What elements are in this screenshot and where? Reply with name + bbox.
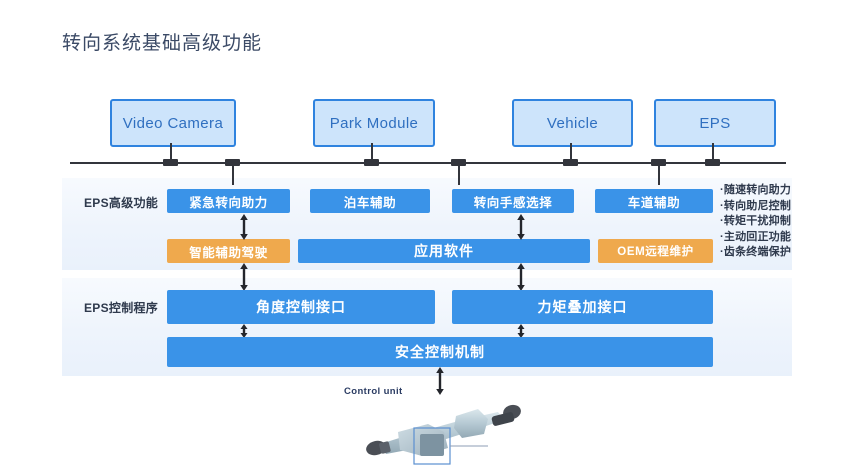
- software-bar-application-software[interactable]: 应用软件: [298, 239, 590, 263]
- software-chip-oem-remote-maintenance[interactable]: OEM远程维护: [598, 239, 713, 263]
- device-box-label: Park Module: [330, 115, 419, 132]
- arrow-software-to-angle-interface: [238, 263, 250, 291]
- bullet-item: ·转向助尼控制: [720, 199, 791, 215]
- base-function-bullet-list: ·随速转向助力 ·转向助尼控制 ·转矩干扰抑制 ·主动回正功能 ·齿条终端保护: [720, 183, 791, 261]
- device-box-park-module[interactable]: Park Module: [313, 99, 435, 147]
- software-chip-label: 智能辅助驾驶: [189, 242, 268, 261]
- bus-node: [225, 159, 240, 166]
- function-chip-label: 紧急转向助力: [189, 192, 268, 211]
- function-chip-label: 车道辅助: [628, 192, 680, 211]
- bus-node: [163, 159, 178, 166]
- arrow-up-down-right: [515, 214, 527, 240]
- bus-node: [563, 159, 578, 166]
- control-unit-caption: Control unit: [344, 386, 403, 397]
- device-box-eps[interactable]: EPS: [654, 99, 776, 147]
- device-box-label: Vehicle: [547, 115, 598, 132]
- arrow-angle-to-safety: [238, 324, 250, 338]
- bullet-item: ·随速转向助力: [720, 183, 791, 199]
- interface-bar-angle-control[interactable]: 角度控制接口: [167, 290, 435, 324]
- software-bar-label: 应用软件: [414, 241, 474, 261]
- row-label-advanced-functions: EPS高级功能: [84, 194, 158, 211]
- function-chip-park-assist[interactable]: 泊车辅助: [310, 189, 430, 213]
- function-chip-steering-feel-selection[interactable]: 转向手感选择: [452, 189, 574, 213]
- bus-stem-down: [458, 163, 460, 185]
- bus-stem-down: [232, 163, 234, 185]
- interface-bar-label: 力矩叠加接口: [538, 297, 628, 317]
- bus-node: [364, 159, 379, 166]
- bullet-item: ·主动回正功能: [720, 230, 791, 246]
- bullet-item: ·转矩干扰抑制: [720, 214, 791, 230]
- eps-steering-rack-image: [352, 398, 537, 474]
- safety-control-label: 安全控制机制: [395, 342, 485, 362]
- arrow-torque-to-safety: [515, 324, 527, 338]
- interface-bar-label: 角度控制接口: [256, 297, 346, 317]
- device-box-video-camera[interactable]: Video Camera: [110, 99, 236, 147]
- bus-node: [705, 159, 720, 166]
- device-box-vehicle[interactable]: Vehicle: [512, 99, 633, 147]
- page-title: 转向系统基础高级功能: [62, 28, 262, 55]
- function-chip-lane-assist[interactable]: 车道辅助: [595, 189, 713, 213]
- arrow-software-to-torque-interface: [515, 263, 527, 291]
- function-chip-emergency-steering-assist[interactable]: 紧急转向助力: [167, 189, 290, 213]
- bus-node: [651, 159, 666, 166]
- interface-bar-torque-overlay[interactable]: 力矩叠加接口: [452, 290, 713, 324]
- bullet-item: ·齿条终端保护: [720, 245, 791, 261]
- safety-control-bar[interactable]: 安全控制机制: [167, 337, 713, 367]
- device-box-label: EPS: [699, 115, 730, 132]
- function-chip-label: 泊车辅助: [344, 192, 396, 211]
- bus-stem-down: [658, 163, 660, 185]
- software-chip-intelligent-driving-assist[interactable]: 智能辅助驾驶: [167, 239, 290, 263]
- bus-node: [451, 159, 466, 166]
- arrow-up-down-left: [238, 214, 250, 240]
- row-label-control-program: EPS控制程序: [84, 299, 158, 316]
- arrow-safety-to-hardware: [434, 367, 446, 395]
- function-chip-label: 转向手感选择: [474, 192, 553, 211]
- device-box-label: Video Camera: [123, 115, 223, 132]
- software-chip-label: OEM远程维护: [617, 243, 693, 259]
